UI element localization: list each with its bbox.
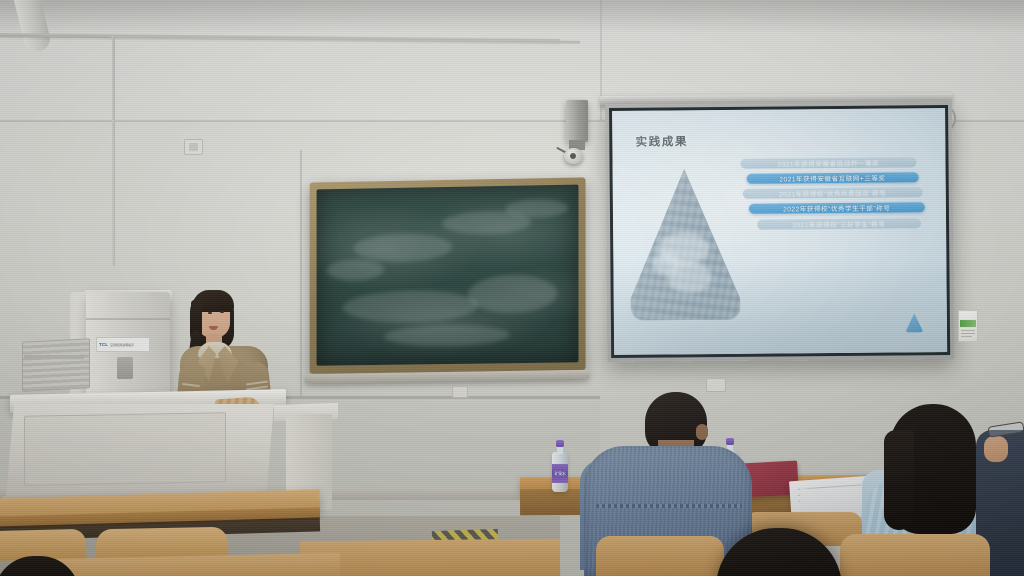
slide-bullet-item: 2021年获得安徽省挑战杯一等奖 — [740, 157, 916, 169]
student-denim-seam — [596, 504, 742, 508]
presentation-slide: 实践成果 2021年获得安徽省挑战杯一等奖 2021年获得安徽省互联网+三等奖 … — [612, 108, 947, 355]
classroom-photo: 实践成果 2021年获得安徽省挑战杯一等奖 2021年获得安徽省互联网+三等奖 … — [0, 0, 1024, 576]
wall-socket-icon — [184, 139, 203, 155]
slide-title: 实践成果 — [636, 133, 689, 149]
wall-sign — [958, 310, 978, 342]
wall-conduit-vertical — [112, 36, 115, 266]
slide-bullet-item: 2021年获得校“三好学生”称号 — [757, 218, 921, 229]
wall-sign-band — [960, 320, 976, 327]
screen-border: 实践成果 2021年获得安徽省挑战杯一等奖 2021年获得安徽省互联网+三等奖 … — [609, 105, 950, 358]
wall-camera-lens-icon — [570, 153, 576, 159]
student-dark-jacket-hand — [984, 436, 1008, 462]
air-conditioner-seam — [86, 318, 170, 320]
bottle-cap — [556, 440, 564, 447]
air-conditioner-note: 空调使用说明提示 — [108, 343, 134, 347]
bottle-neck — [557, 446, 563, 454]
air-conditioner-control-panel[interactable] — [117, 357, 133, 379]
student-sweater-hair-front — [884, 430, 914, 530]
triangle-logo-icon — [905, 313, 924, 333]
wall-panel-seam — [300, 150, 302, 400]
ceiling-shadow — [0, 0, 1024, 34]
bottle-label: 矿泉水 — [552, 464, 568, 483]
slide-bullet-item: 2022年获得校“优秀学生干部”称号 — [749, 203, 925, 215]
wall-outlet-icon — [706, 378, 726, 392]
student-denim-ear — [696, 424, 708, 440]
podium-front-panel — [24, 412, 226, 486]
air-conditioner-vent-slat — [24, 355, 84, 359]
foreground-chair — [840, 534, 990, 576]
slide-bullet-item: 2021年获得校“优秀共青团员”称号 — [743, 187, 923, 199]
slide-triangle-photo — [629, 168, 740, 320]
water-bottle: 矿泉水 — [552, 440, 568, 492]
wall-camera-housing — [566, 100, 588, 142]
slide-bullet-item: 2021年获得安徽省互联网+三等奖 — [746, 172, 918, 183]
wall-outlet-icon — [452, 386, 468, 398]
foreground-chair — [596, 536, 724, 576]
blackboard — [310, 177, 586, 373]
slide-bullet-list: 2021年获得安徽省挑战杯一等奖 2021年获得安徽省互联网+三等奖 2021年… — [732, 157, 932, 235]
blackboard-surface — [317, 185, 579, 366]
bottle-label-text: 矿泉水 — [552, 464, 568, 483]
air-conditioner-vent-grill — [22, 338, 90, 392]
bottle-cap — [726, 438, 734, 445]
air-conditioner-brand: TCL — [97, 342, 108, 347]
air-conditioner-label: TCL 空调使用说明提示 — [96, 337, 150, 352]
screen-surface: 实践成果 2021年获得安徽省挑战杯一等奖 2021年获得安徽省互联网+三等奖 … — [612, 108, 947, 355]
projection-screen: 实践成果 2021年获得安徽省挑战杯一等奖 2021年获得安徽省互联网+三等奖 … — [605, 101, 954, 362]
